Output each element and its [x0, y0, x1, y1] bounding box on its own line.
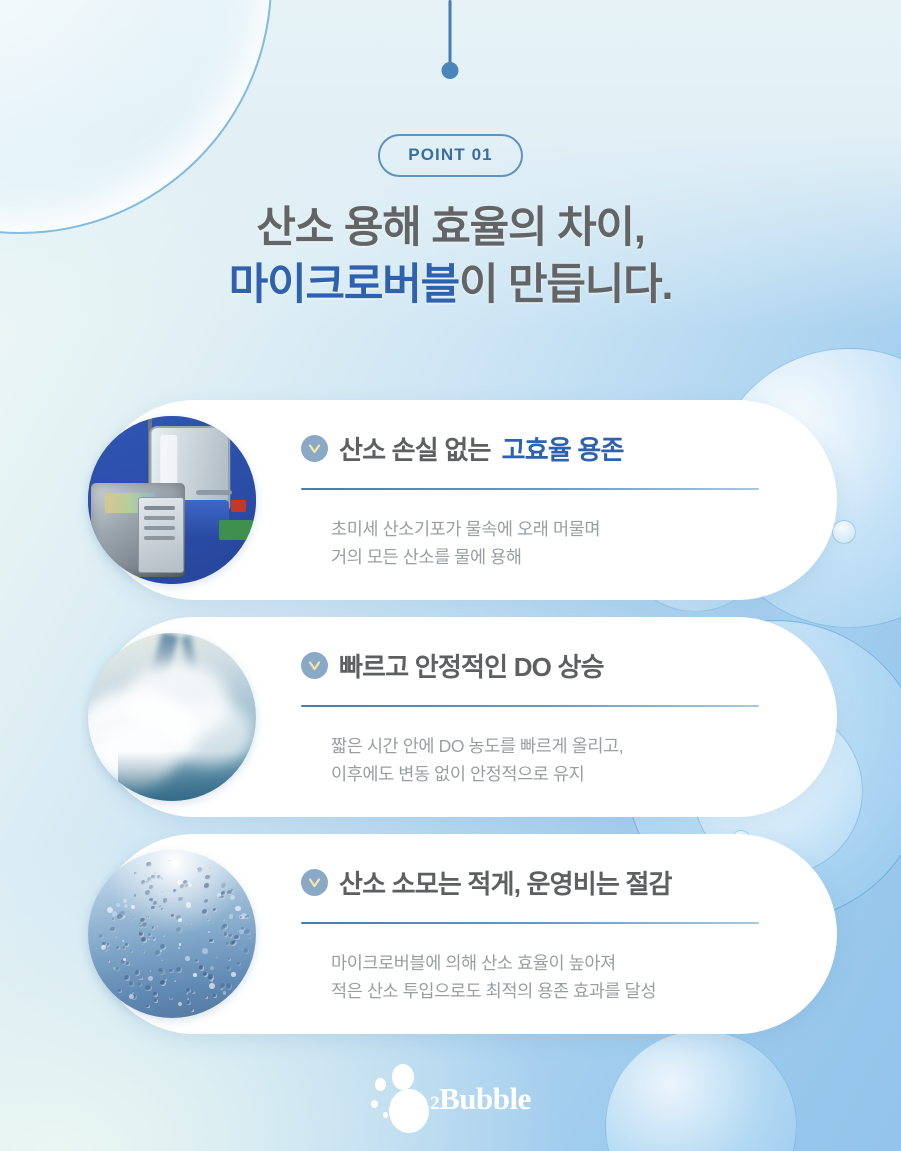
- headline-accent: 마이크로버블: [229, 261, 459, 309]
- brand-logo: 2Bubble: [0, 1062, 901, 1123]
- feature-card[interactable]: 빠르고 안정적인 DO 상승 짧은 시간 안에 DO 농도를 빠르게 올리고, …: [95, 617, 837, 817]
- feature-card[interactable]: 산소 소모는 적게, 운영비는 절감 마이크로버블에 의해 산소 효율이 높아져…: [95, 834, 837, 1034]
- card-divider: [301, 488, 759, 490]
- card-title-plain: 산소 손실 없는: [339, 430, 491, 467]
- card-divider: [301, 705, 759, 707]
- headline-rest: 이 만듭니다.: [459, 261, 672, 309]
- brand-logo-suffix: Bubble: [439, 1081, 531, 1116]
- card-title: 빠르고 안정적인 DO 상승: [301, 647, 779, 684]
- card-title-accent: 고효율 용존: [502, 430, 624, 467]
- brand-logo-text: 2Bubble: [430, 1083, 531, 1118]
- point-badge: POINT 01: [378, 134, 522, 177]
- card-description: 짧은 시간 안에 DO 농도를 빠르게 올리고, 이후에도 변동 없이 안정적으…: [331, 732, 779, 789]
- headline-line-2: 마이크로버블이 만듭니다.: [0, 257, 901, 314]
- oxygen-bubbles-in-water-photo: [88, 850, 256, 1018]
- bubble-logo-icon: [370, 1062, 426, 1118]
- check-v-icon: [301, 652, 328, 679]
- headline-line-1: 산소 용해 효율의 차이,: [0, 200, 901, 257]
- card-title-plain: 산소 소모는 적게, 운영비는 절감: [339, 864, 672, 901]
- card-description: 마이크로버블에 의해 산소 효율이 높아져 적은 산소 투입으로도 최적의 용존…: [331, 949, 779, 1006]
- connector-line: [449, 0, 452, 68]
- check-v-icon: [301, 869, 328, 896]
- decorative-bubble-small: [832, 520, 856, 544]
- page-title: 산소 용해 효율의 차이, 마이크로버블이 만듭니다.: [0, 200, 901, 314]
- card-divider: [301, 922, 759, 924]
- milky-microbubble-water-photo: [88, 633, 256, 801]
- card-body: 산소 손실 없는 고효율 용존 초미세 산소기포가 물속에 오래 머물며 거의 …: [301, 430, 779, 572]
- brand-logo-subscript: 2: [430, 1093, 439, 1114]
- top-connector: [0, 0, 901, 86]
- microbubble-generator-machine-photo: [88, 416, 256, 584]
- card-body: 산소 소모는 적게, 운영비는 절감 마이크로버블에 의해 산소 효율이 높아져…: [301, 864, 779, 1006]
- point-badge-wrapper: POINT 01: [0, 134, 901, 177]
- card-description: 초미세 산소기포가 물속에 오래 머물며 거의 모든 산소를 물에 용해: [331, 515, 779, 572]
- card-title-plain: 빠르고 안정적인 DO 상승: [339, 647, 604, 684]
- feature-card[interactable]: 산소 손실 없는 고효율 용존 초미세 산소기포가 물속에 오래 머물며 거의 …: [95, 400, 837, 600]
- connector-dot-icon: [442, 62, 459, 79]
- check-v-icon: [301, 435, 328, 462]
- card-title: 산소 소모는 적게, 운영비는 절감: [301, 864, 779, 901]
- card-title: 산소 손실 없는 고효율 용존: [301, 430, 779, 467]
- card-body: 빠르고 안정적인 DO 상승 짧은 시간 안에 DO 농도를 빠르게 올리고, …: [301, 647, 779, 789]
